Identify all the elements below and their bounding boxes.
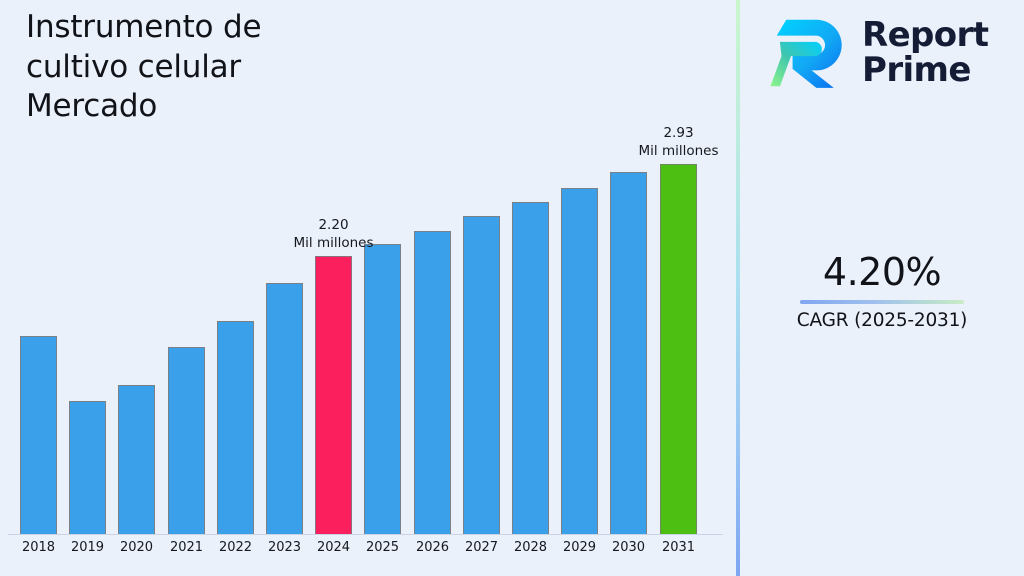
bar-2029 — [561, 188, 598, 534]
x-tick-2022: 2022 — [209, 540, 262, 555]
x-axis-tick-labels: 2018201920202021202220232024202520262027… — [0, 540, 738, 566]
bar-2023 — [266, 283, 303, 534]
x-tick-2018: 2018 — [12, 540, 65, 555]
bar-2021 — [168, 347, 205, 534]
report-prime-r-logo-icon — [770, 15, 850, 91]
x-tick-2028: 2028 — [504, 540, 557, 555]
cagr-caption: CAGR (2025-2031) — [740, 310, 1024, 331]
x-tick-2023: 2023 — [258, 540, 311, 555]
page-title: Instrumento de cultivo celular Mercado — [26, 8, 426, 127]
cagr-divider — [800, 300, 964, 304]
x-axis-line — [8, 534, 723, 535]
bar-2018 — [20, 336, 57, 534]
x-tick-2021: 2021 — [160, 540, 213, 555]
bar-2026 — [414, 231, 451, 534]
bar-2019 — [69, 401, 106, 534]
bar-2025 — [364, 244, 401, 534]
bar-2024 — [315, 256, 352, 534]
x-tick-2019: 2019 — [61, 540, 114, 555]
chart-panel: Instrumento de cultivo celular Mercado 2… — [0, 0, 738, 576]
x-tick-2026: 2026 — [406, 540, 459, 555]
bar-2031 — [660, 164, 697, 534]
x-tick-2027: 2027 — [455, 540, 508, 555]
bar-2030 — [610, 172, 647, 534]
x-tick-2031: 2031 — [652, 540, 705, 555]
bar-value-label-2031: 2.93 Mil millones — [609, 125, 749, 160]
brand-name: Report Prime — [862, 18, 988, 87]
x-tick-2024: 2024 — [307, 540, 360, 555]
x-tick-2020: 2020 — [110, 540, 163, 555]
bar-2020 — [118, 385, 155, 534]
bar-2022 — [217, 321, 254, 534]
plot-area: 2.20 Mil millones2.93 Mil millones — [0, 130, 738, 536]
brand-panel: Report Prime 4.20% CAGR (2025-2031) — [740, 0, 1024, 576]
x-tick-2029: 2029 — [553, 540, 606, 555]
bars-layer: 2.20 Mil millones2.93 Mil millones — [0, 130, 738, 534]
x-tick-2025: 2025 — [356, 540, 409, 555]
x-tick-2030: 2030 — [602, 540, 655, 555]
cagr-block: 4.20% CAGR (2025-2031) — [740, 252, 1024, 331]
bar-2028 — [512, 202, 549, 534]
brand-logo: Report Prime — [770, 12, 1010, 94]
cagr-value: 4.20% — [740, 252, 1024, 294]
bar-2027 — [463, 216, 500, 534]
